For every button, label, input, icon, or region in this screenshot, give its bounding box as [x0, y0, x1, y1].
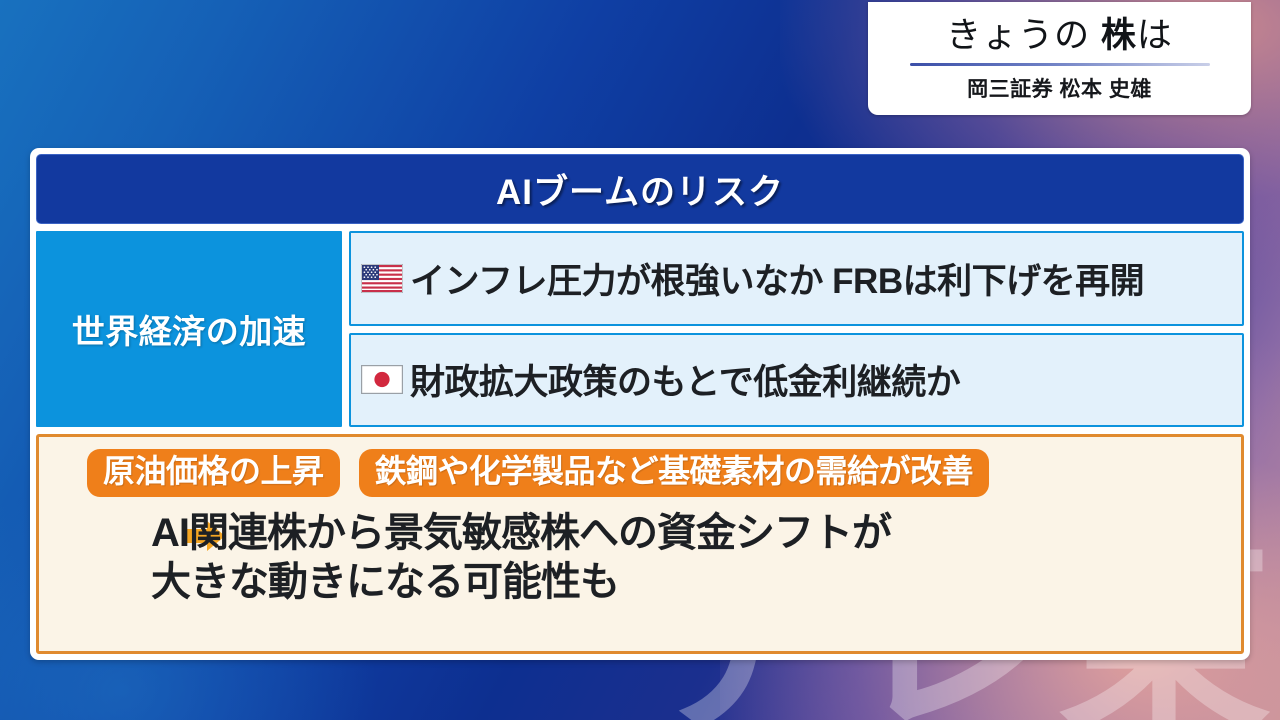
- blue-section-label: 世界経済の加速: [36, 231, 342, 427]
- orange-section: 原油価格の上昇 鉄鋼や化学製品など基礎素材の需給が改善 AI関連株から景気敏感株…: [36, 434, 1244, 654]
- blue-section: 世界経済の加速: [36, 231, 1244, 427]
- blue-section-label-text: 世界経済の加速: [72, 305, 307, 353]
- jp-flag-icon: [361, 365, 403, 394]
- pill-materials-demand: 鉄鋼や化学製品など基礎素材の需給が改善: [359, 449, 990, 497]
- program-title-suffix: は: [1137, 16, 1173, 55]
- us-flag-icon: [361, 264, 403, 293]
- pill-oil-price: 原油価格の上昇: [87, 449, 340, 497]
- program-title-prefix: きょうの: [946, 16, 1101, 55]
- conclusion-text: AI関連株から景気敏感株への資金シフトが 大きな動きになる可能性も: [151, 509, 891, 607]
- program-commentator: 岡三証券 松本 史雄: [967, 73, 1152, 103]
- blue-row-jp: 財政拡大政策のもとで低金利継続か: [349, 333, 1244, 428]
- panel-title-text: AIブームのリスク: [496, 164, 784, 215]
- blue-row-us: インフレ圧力が根強いなか FRBは利下げを再開: [349, 231, 1244, 326]
- program-title-emphasis: 株: [1101, 16, 1137, 55]
- program-header-card: きょうの 株は 岡三証券 松本 史雄: [868, 2, 1251, 115]
- panel-title-bar: AIブームのリスク: [36, 154, 1244, 224]
- conclusion-row: AI関連株から景気敏感株への資金シフトが 大きな動きになる可能性も: [53, 509, 1227, 607]
- blue-row-jp-text: 財政拡大政策のもとで低金利継続か: [410, 354, 960, 405]
- program-title: きょうの 株は: [946, 18, 1173, 53]
- blue-section-rows: インフレ圧力が根強いなか FRBは利下げを再開 財政拡大政策のもとで低金利継続か: [349, 231, 1244, 427]
- broadcast-graphic-stage: テレ東 きょうの 株は 岡三証券 松本 史雄 AIブームのリスク 世界経済の加速: [0, 0, 1280, 720]
- orange-pill-row: 原油価格の上昇 鉄鋼や化学製品など基礎素材の需給が改善: [53, 449, 1227, 497]
- blue-row-us-text: インフレ圧力が根強いなか FRBは利下げを再開: [410, 253, 1144, 304]
- header-divider-rule: [910, 63, 1210, 66]
- content-panel: AIブームのリスク 世界経済の加速: [30, 148, 1250, 660]
